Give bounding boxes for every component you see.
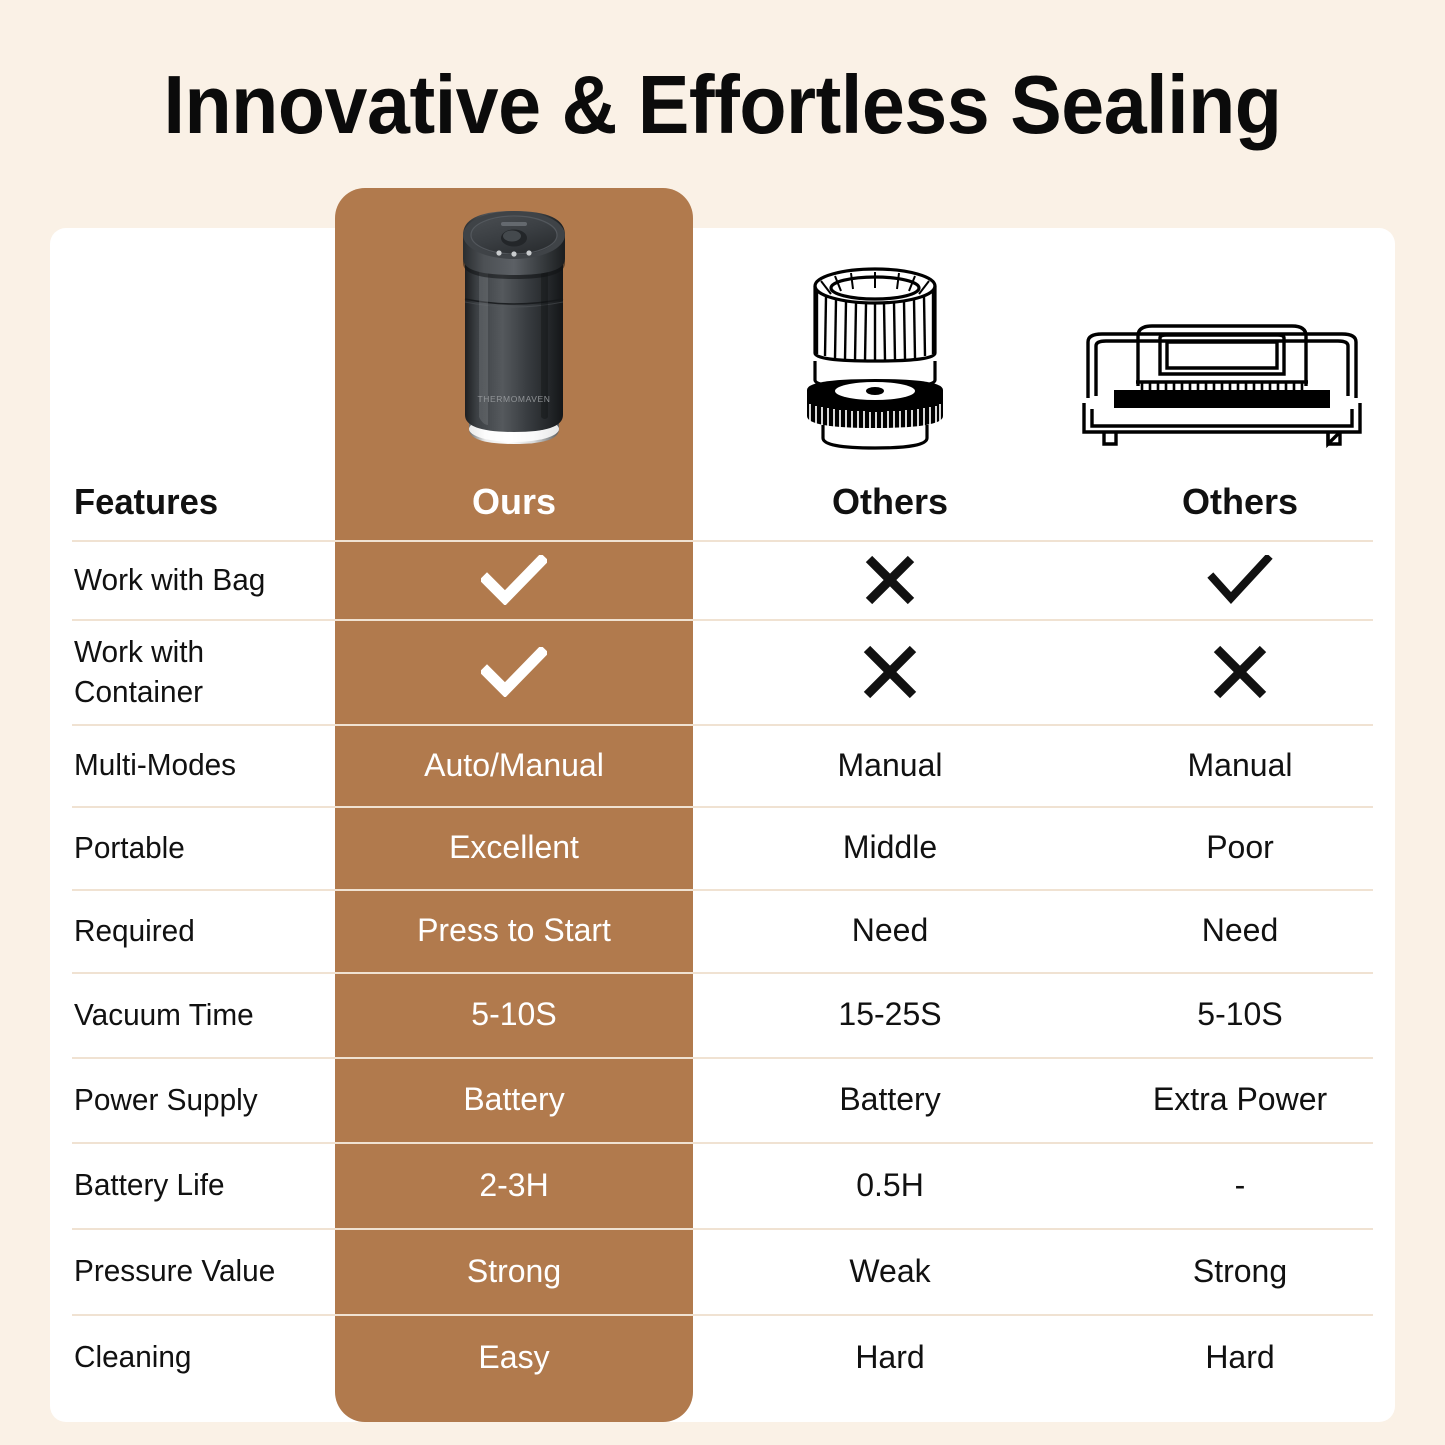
row-feature-label: Battery Life	[74, 1142, 333, 1228]
row-other1-value: 15-25S	[750, 972, 1030, 1057]
row-other2-value: Extra Power	[1095, 1057, 1385, 1142]
header-ours-label: Ours	[335, 464, 693, 540]
row-other2-value: Poor	[1095, 806, 1385, 889]
check-icon	[335, 647, 693, 697]
row-feature-label: Required	[74, 889, 333, 972]
row-ours-value: Press to Start	[335, 889, 693, 972]
row-ours-value: Auto/Manual	[335, 724, 693, 806]
row-other1-value: Manual	[750, 724, 1030, 806]
row-other2-value: 5-10S	[1095, 972, 1385, 1057]
row-feature-label: Work with Container	[74, 619, 256, 724]
row-ours-value: Excellent	[335, 806, 693, 889]
row-other2-value: Strong	[1095, 1228, 1385, 1314]
cross-icon	[750, 553, 1030, 607]
row-other2-value: Hard	[1095, 1314, 1385, 1400]
row-other2-value: -	[1095, 1142, 1385, 1228]
row-feature-label: Portable	[74, 806, 333, 889]
table-row: Multi-Modes Auto/Manual Manual Manual	[50, 724, 1395, 806]
row-feature-label: Vacuum Time	[74, 972, 333, 1057]
row-other2-value: Manual	[1095, 724, 1385, 806]
row-other1-value: Hard	[750, 1314, 1030, 1400]
table-row: Work with Bag	[50, 540, 1395, 619]
row-other1-value	[750, 540, 1030, 619]
header-features-label: Features	[74, 464, 333, 540]
table-row: Vacuum Time 5-10S 15-25S 5-10S	[50, 972, 1395, 1057]
row-other1-value: Need	[750, 889, 1030, 972]
table-row: Pressure Value Strong Weak Strong	[50, 1228, 1395, 1314]
cross-icon	[1095, 643, 1385, 701]
header-other1-label: Others	[750, 464, 1030, 540]
table-row: Required Press to Start Need Need	[50, 889, 1395, 972]
row-other1-value: Weak	[750, 1228, 1030, 1314]
table-row: Power Supply Battery Battery Extra Power	[50, 1057, 1395, 1142]
row-ours-value: Battery	[335, 1057, 693, 1142]
page-title: Innovative & Effortless Sealing	[51, 57, 1395, 153]
row-other2-value	[1095, 619, 1385, 724]
table-row: Portable Excellent Middle Poor	[50, 806, 1395, 889]
row-other2-value	[1095, 540, 1385, 619]
table-header-row: Features Ours Others Others	[50, 464, 1395, 540]
row-ours-value: 2-3H	[335, 1142, 693, 1228]
row-feature-label: Cleaning	[74, 1314, 333, 1400]
row-ours-value: Strong	[335, 1228, 693, 1314]
cross-icon	[750, 643, 1030, 701]
row-other1-value: Battery	[750, 1057, 1030, 1142]
row-feature-label: Multi-Modes	[74, 724, 333, 806]
row-ours-value	[335, 619, 693, 724]
comparison-table: Features Ours Others Others Work with Ba…	[50, 228, 1395, 1422]
row-feature-label: Power Supply	[74, 1057, 333, 1142]
row-other1-value: 0.5H	[750, 1142, 1030, 1228]
row-other1-value: Middle	[750, 806, 1030, 889]
table-row: Battery Life 2-3H 0.5H -	[50, 1142, 1395, 1228]
row-other1-value	[750, 619, 1030, 724]
row-ours-value: Easy	[335, 1314, 693, 1400]
check-icon	[335, 555, 693, 605]
row-other2-value: Need	[1095, 889, 1385, 972]
table-row: Cleaning Easy Hard Hard	[50, 1314, 1395, 1400]
row-feature-label: Pressure Value	[74, 1228, 333, 1314]
check-icon	[1095, 555, 1385, 605]
table-row: Work with Container	[50, 619, 1395, 724]
comparison-infographic: Innovative & Effortless Sealing	[0, 0, 1445, 1445]
row-feature-label: Work with Bag	[74, 540, 333, 619]
header-other2-label: Others	[1095, 464, 1385, 540]
row-ours-value	[335, 540, 693, 619]
row-ours-value: 5-10S	[335, 972, 693, 1057]
